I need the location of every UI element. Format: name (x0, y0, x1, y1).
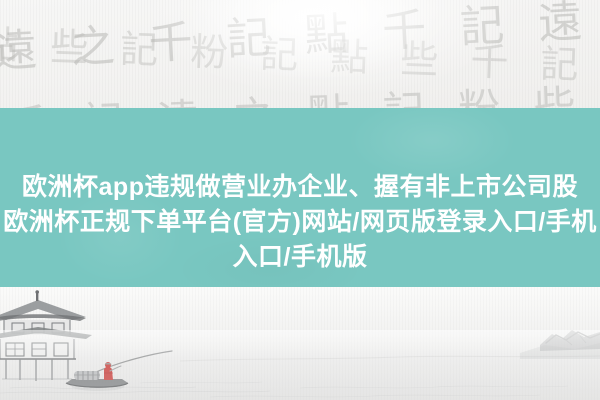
water-mist-overlay (0, 330, 600, 400)
headline-band: 欧洲杯app违规做营业办企业、握有非上市公司股 欧洲杯正规下单平台(官方)网站/… (0, 108, 600, 287)
headline-line-2: 欧洲杯正规下单平台(官方)网站/网页版登录入口/手机 (0, 205, 600, 240)
banner-image: 遠 之 千 記 點 千 記 遠 之 千 記 點 之 記 點 些 記 粉 記 點 … (0, 0, 600, 400)
headline-line-3: 入口/手机版 (0, 240, 600, 275)
headline-text-block: 欧洲杯app违规做营业办企业、握有非上市公司股 欧洲杯正规下单平台(官方)网站/… (0, 170, 600, 275)
ink-wash-landscape (0, 287, 600, 400)
headline-line-1: 欧洲杯app违规做营业办企业、握有非上市公司股 (0, 170, 600, 205)
